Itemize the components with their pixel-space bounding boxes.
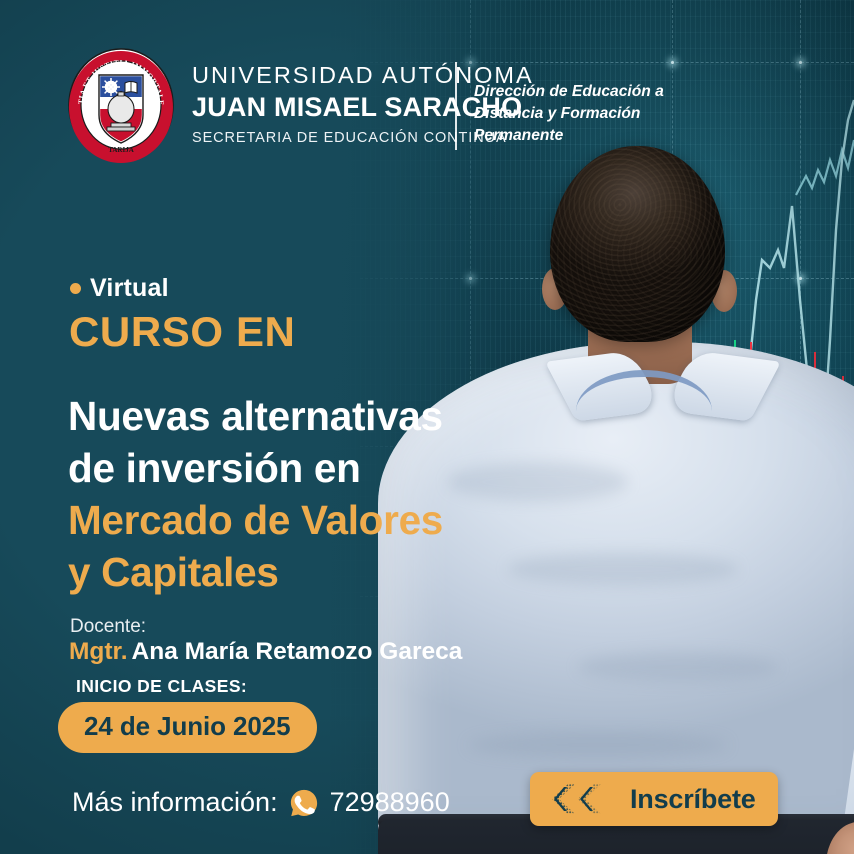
bullet-dot-icon bbox=[70, 283, 81, 294]
teacher-label: Docente: bbox=[70, 616, 146, 638]
contact-label: Más información: bbox=[72, 787, 278, 818]
poster-header: SAPIENTIA ET JUSTITIA IMMORTALES SUNT UN… bbox=[0, 0, 854, 180]
kicker-text: CURSO EN bbox=[69, 308, 296, 356]
modality-label: Virtual bbox=[90, 274, 169, 303]
seal-city-text: TARIJA bbox=[108, 146, 134, 154]
start-date-label: INICIO DE CLASES: bbox=[76, 676, 247, 697]
course-title-line-1: Nuevas alternativas bbox=[68, 390, 538, 442]
seal-book bbox=[125, 82, 137, 94]
course-promo-poster: SAPIENTIA ET JUSTITIA IMMORTALES SUNT UN… bbox=[0, 0, 854, 854]
enroll-button[interactable]: Inscríbete bbox=[530, 772, 778, 826]
course-title: Nuevas alternativas de inversión en Merc… bbox=[68, 390, 538, 598]
course-title-line-4: y Capitales bbox=[68, 546, 538, 598]
modality-badge: Virtual bbox=[70, 274, 169, 303]
department-name: Dirección de Educación a Distancia y For… bbox=[474, 81, 674, 147]
enroll-button-label: Inscríbete bbox=[630, 784, 756, 815]
whatsapp-icon[interactable] bbox=[289, 788, 319, 818]
teacher-name: Ana María Retamozo Gareca bbox=[132, 638, 463, 665]
course-title-line-2: de inversión en bbox=[68, 442, 538, 494]
start-date-badge: 24 de Junio 2025 bbox=[58, 702, 317, 753]
teacher-title-prefix: Mgtr. bbox=[69, 638, 128, 665]
phone-number[interactable]: 72988960 bbox=[330, 787, 450, 818]
seal-star bbox=[102, 78, 120, 96]
header-divider bbox=[455, 62, 457, 150]
university-seal-logo: SAPIENTIA ET JUSTITIA IMMORTALES SUNT UN… bbox=[67, 47, 175, 163]
contact-row: Más información: 72988960 bbox=[72, 787, 450, 818]
teacher-name-row: Mgtr.Ana María Retamozo Gareca bbox=[69, 638, 462, 666]
double-chevron-left-icon bbox=[542, 781, 622, 817]
course-title-line-3: Mercado de Valores bbox=[68, 494, 538, 546]
